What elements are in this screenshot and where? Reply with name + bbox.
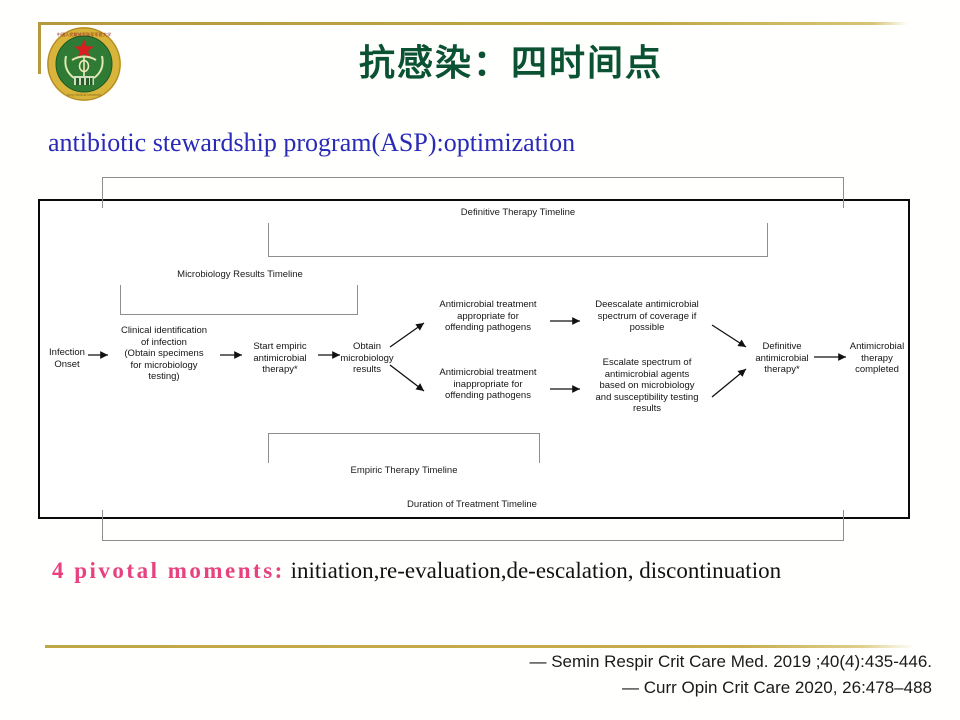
citation-2: — Curr Opin Crit Care 2020, 26:478–488 bbox=[622, 678, 932, 698]
node-therapy-completed: Antimicrobialtherapycompleted bbox=[842, 341, 912, 376]
node-escalate-spectrum: Escalate spectrum ofantimicrobial agents… bbox=[578, 357, 716, 415]
citation-1: — Semin Respir Crit Care Med. 2019 ;40(4… bbox=[529, 652, 932, 672]
header-gold-rule bbox=[38, 22, 908, 25]
svg-text:Army Medical University: Army Medical University bbox=[67, 93, 102, 97]
footer-gold-rule bbox=[45, 645, 915, 648]
node-start-empiric-therapy: Start empiricantimicrobialtherapy* bbox=[240, 341, 320, 376]
pivotal-moments-body: initiation,re-evaluation,de-escalation, … bbox=[285, 558, 781, 583]
node-deescalate-spectrum: Deescalate antimicrobialspectrum of cove… bbox=[578, 299, 716, 334]
figure-inner: Definitive Therapy Timeline Microbiology… bbox=[40, 201, 908, 517]
page-title: 抗感染：四时间点 bbox=[0, 34, 960, 86]
slide-subtitle: antibiotic stewardship program(ASP):opti… bbox=[48, 128, 575, 158]
pivotal-moments-lead: 4 pivotal moments: bbox=[52, 558, 285, 583]
node-infection-onset: InfectionOnset bbox=[44, 347, 90, 370]
figure-container: Definitive Therapy Timeline Microbiology… bbox=[38, 199, 910, 519]
node-obtain-microbiology-results: Obtainmicrobiologyresults bbox=[336, 341, 398, 376]
node-clinical-identification: Clinical identificationof infection(Obta… bbox=[106, 325, 222, 383]
node-treatment-appropriate: Antimicrobial treatmentappropriate forof… bbox=[424, 299, 552, 334]
node-definitive-therapy: Definitiveantimicrobialtherapy* bbox=[746, 341, 818, 376]
node-treatment-inappropriate: Antimicrobial treatmentinappropriate for… bbox=[424, 367, 552, 402]
pivotal-moments-text: 4 pivotal moments: initiation,re-evaluat… bbox=[52, 552, 932, 590]
